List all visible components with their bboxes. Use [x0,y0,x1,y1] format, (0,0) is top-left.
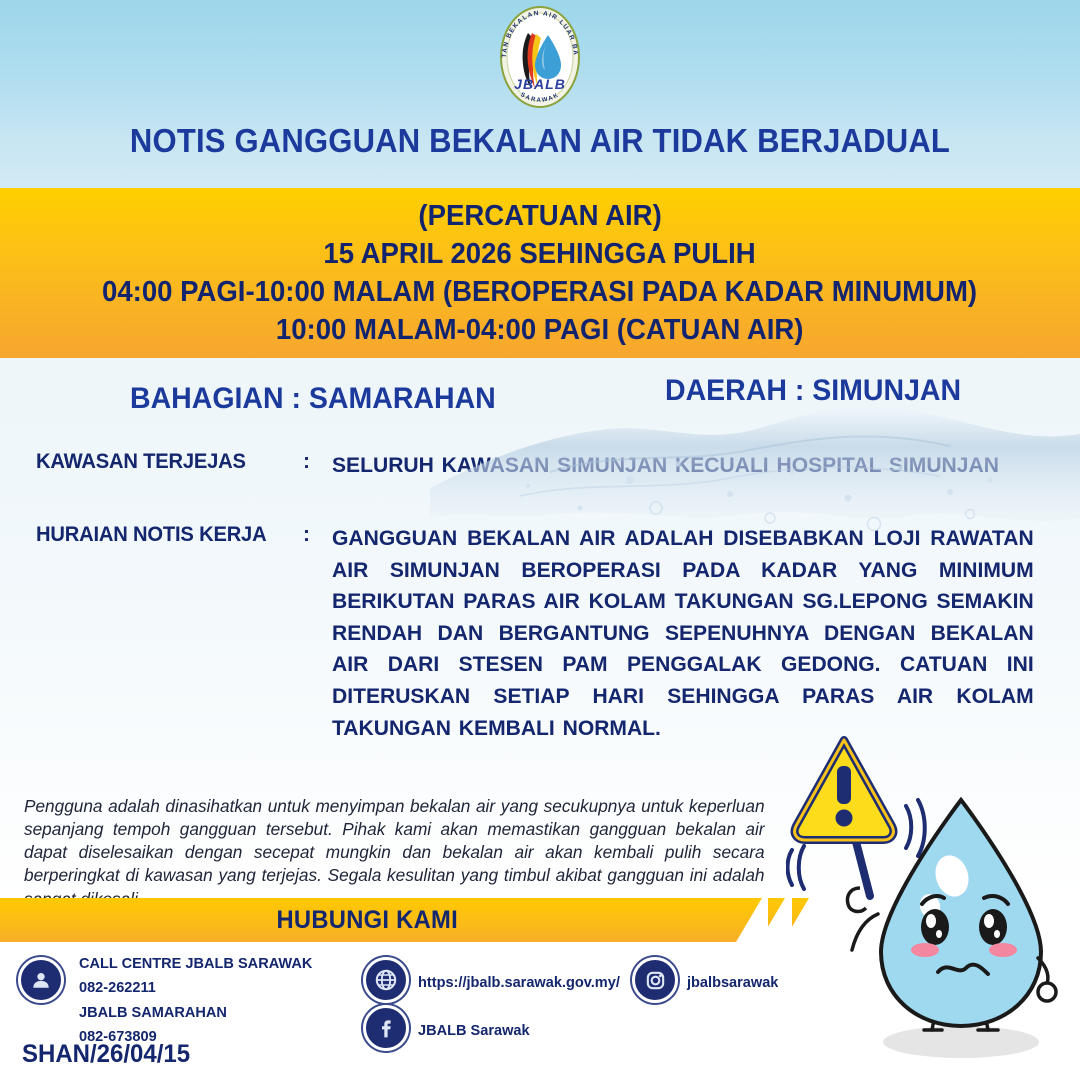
banner-line-3: 04:00 PAGI-10:00 MALAM (BEROPERASI PADA … [102,274,977,312]
decorative-stripe-2 [792,898,809,942]
field-value-kawasan: SELURUH KAWASAN SIMUNJAN KECUALI HOSPITA… [332,450,1034,482]
jbalb-logo: JABATAN BEKALAN AIR LUAR BANDAR JBALB SA… [488,5,592,109]
region-row: BAHAGIAN : SAMARAHAN DAERAH : SIMUNJAN [0,382,1080,428]
facebook-label[interactable]: JBALB Sarawak [418,1019,530,1043]
field-colon-kawasan: : [303,450,310,474]
field-value-huraian: GANGGUAN BEKALAN AIR ADALAH DISEBABKAN L… [332,523,1034,744]
call-centre-title: CALL CENTRE JBALB SARAWAK [79,952,312,976]
globe-icon[interactable] [363,957,409,1003]
district-label: DAERAH : SIMUNJAN [665,374,961,408]
advisory-paragraph: Pengguna adalah dinasihatkan untuk menyi… [24,795,765,911]
field-colon-huraian: : [303,523,310,547]
water-disruption-notice-poster: JABATAN BEKALAN AIR LUAR BANDAR JBALB SA… [0,0,1080,1080]
banner-line-1: (PERCATUAN AIR) [418,198,661,236]
contact-heading-bar: HUBUNGI KAMI [0,898,762,942]
poster-header: JABATAN BEKALAN AIR LUAR BANDAR JBALB SA… [0,0,1080,188]
banner-line-4: 10:00 MALAM-04:00 PAGI (CATUAN AIR) [276,312,804,350]
call-centre-office: JBALB SAMARAHAN [79,1001,312,1025]
instagram-label[interactable]: jbalbsarawak [687,971,778,995]
decorative-stripe-1 [768,898,785,942]
facebook-icon[interactable] [363,1005,409,1051]
instagram-icon[interactable] [632,957,678,1003]
svg-text:JBALB: JBALB [514,76,566,92]
reference-code: SHAN/26/04/15 [22,1040,190,1069]
field-label-kawasan: KAWASAN TERJEJAS [36,450,246,474]
schedule-banner: (PERCATUAN AIR) 15 APRIL 2026 SEHINGGA P… [0,188,1080,358]
division-label: BAHAGIAN : SAMARAHAN [130,382,496,416]
website-label[interactable]: https://jbalb.sarawak.gov.my/ [418,971,620,995]
banner-line-2: 15 APRIL 2026 SEHINGGA PULIH [324,236,756,274]
call-centre-block: CALL CENTRE JBALB SARAWAK 082-262211 JBA… [79,952,312,1049]
field-label-huraian: HURAIAN NOTIS KERJA [36,523,266,547]
user-icon [18,957,64,1003]
contact-heading-label: HUBUNGI KAMI [277,906,459,935]
call-centre-phone-1[interactable]: 082-262211 [79,976,312,1000]
page-title: NOTIS GANGGUAN BEKALAN AIR TIDAK BERJADU… [32,122,1047,160]
